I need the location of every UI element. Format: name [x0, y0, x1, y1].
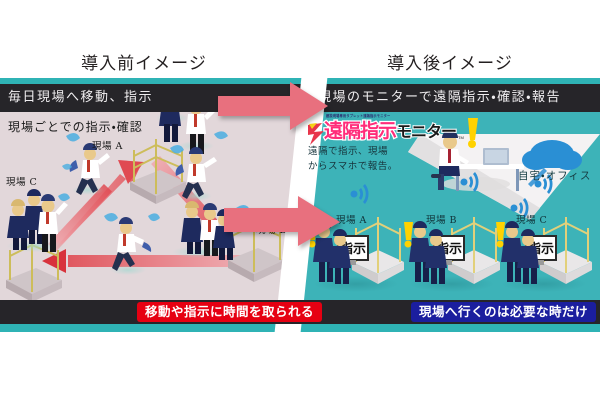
footer-pill-after: 現場へ行くのは必要な時だけ — [411, 302, 596, 322]
product-description-line1: 遠隔で指示、現場 — [308, 145, 460, 158]
big-right-arrow-bottom — [224, 196, 340, 248]
product-name-kanji: 遠隔指示 — [324, 119, 396, 143]
caption-after: 現場のモニターで遠隔指示・確認・報告 — [318, 84, 561, 112]
before-site-c-label: 現場 C — [6, 174, 37, 188]
product-logo-main: 遠隔指示 モニター TM — [308, 119, 460, 143]
caption-before: 毎日現場へ移動、指示 — [8, 84, 153, 112]
product-description-line2: からスマホで報告。 — [308, 160, 460, 173]
title-after: 導入後イメージ — [300, 50, 600, 78]
product-name-kana: モニター — [396, 122, 456, 142]
after-sites: 指示 — [308, 172, 592, 292]
trademark-mark: TM — [458, 135, 464, 140]
big-right-arrow-top — [218, 82, 328, 132]
after-site-c-label: 現場 C — [516, 212, 547, 226]
title-before: 導入前イメージ — [0, 50, 294, 78]
comparison-board: 現場ごとでの指示・確認 — [0, 78, 600, 332]
poster-root: 導入前イメージ 導入後イメージ 現場ごとでの指示・確認 — [0, 0, 600, 400]
people-group-before — [6, 112, 250, 275]
poster-titles: 導入前イメージ 導入後イメージ — [0, 50, 600, 78]
product-logo: 建設現場専用タブレット遠隔指示モニター 遠隔指示 モニター TM 遠隔で指示、現… — [308, 114, 460, 173]
after-site-b-label: 現場 B — [426, 212, 457, 226]
before-site-a-label: 現場 A — [92, 138, 123, 152]
office-label: 自宅・オフィス — [518, 168, 591, 183]
after-panel: 指示 — [300, 112, 600, 316]
footer-strip: 移動や指示に時間を取られる 現場へ行くのは必要な時だけ — [0, 300, 600, 324]
after-site-a-label: 現場 A — [336, 212, 367, 226]
footer-pill-before: 移動や指示に時間を取られる — [137, 302, 322, 322]
before-sublabel: 現場ごとでの指示・確認 — [8, 118, 143, 135]
